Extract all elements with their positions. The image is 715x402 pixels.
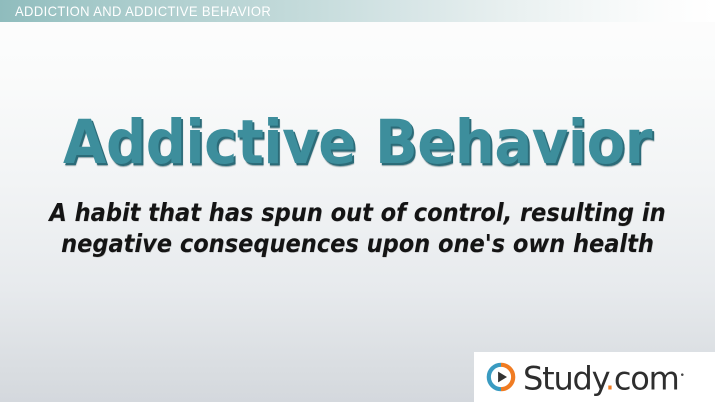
lesson-header-bar: ADDICTION AND ADDICTIVE BEHAVIOR [0, 0, 715, 22]
slide-canvas: ADDICTION AND ADDICTIVE BEHAVIOR Addicti… [0, 0, 715, 402]
play-circle-icon [486, 362, 516, 392]
lesson-header-title: ADDICTION AND ADDICTIVE BEHAVIOR [15, 0, 271, 22]
logo-dot: . [605, 359, 614, 397]
logo-word-com: com [614, 359, 679, 397]
slide-subtitle: A habit that has spun out of control, re… [36, 197, 680, 259]
logo-trademark-mark: • [680, 371, 685, 381]
study-com-logo[interactable]: Study.com• [474, 352, 715, 402]
slide-title: Addictive Behavior [29, 108, 687, 178]
slide-subtitle-line-1: A habit that has spun out of control, re… [36, 197, 680, 228]
logo-word-study: Study [523, 359, 605, 397]
slide-subtitle-line-2: negative consequences upon one's own hea… [36, 228, 680, 259]
study-com-wordmark: Study.com• [523, 359, 685, 396]
